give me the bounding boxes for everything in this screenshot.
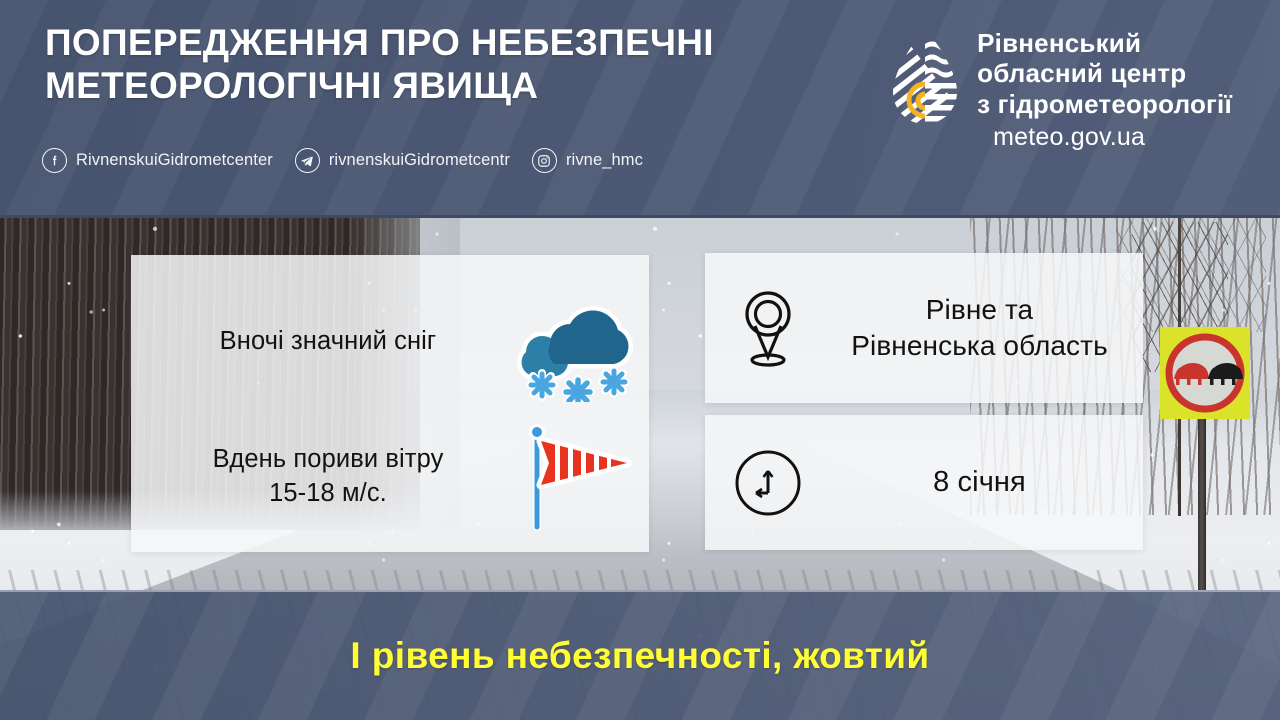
footer-banner: І рівень небезпечності, жовтий [0,590,1280,720]
social-link-instagram[interactable]: rivne_hmc [532,148,643,173]
location-line-2: Рівненська область [830,328,1129,364]
forecast-day-text: Вдень пориви вітру 15-18 м/с. [131,443,499,510]
social-link-telegram[interactable]: rivnenskuiGidrometcentr [295,148,510,173]
date-panel: 8 січня [705,415,1143,550]
organization-logo: Рівненський обласний центр з гідрометеор… [889,26,1232,152]
instagram-icon [532,148,557,173]
no-overtaking-sign [1160,327,1250,419]
forecast-day-line-2: 15-18 м/с. [157,477,499,511]
location-panel: Рівне та Рівненська область [705,253,1143,403]
header-banner: ПОПЕРЕДЖЕННЯ ПРО НЕБЕЗПЕЧНІ МЕТЕОРОЛОГІЧ… [0,0,1280,218]
clock-icon [705,446,830,520]
social-link-facebook[interactable]: RivnenskuiGidrometcenter [42,148,273,173]
date-text: 8 січня [830,464,1143,502]
hydromet-droplet-logo-icon [889,26,961,131]
logo-line-2: обласний центр [977,58,1232,88]
location-line-1: Рівне та [830,292,1129,328]
snow-cloud-icon [499,282,649,402]
logo-line-3: з гідрометеорології [977,89,1232,119]
telegram-handle: rivnenskuiGidrometcentr [329,151,510,170]
telegram-icon [295,148,320,173]
forecast-night-text: Вночі значний сніг [131,325,499,359]
page-title: ПОПЕРЕДЖЕННЯ ПРО НЕБЕЗПЕЧНІ МЕТЕОРОЛОГІЧ… [45,22,805,108]
forecast-row-day: Вдень пориви вітру 15-18 м/с. [131,407,649,547]
logo-line-1: Рівненський [977,28,1232,58]
facebook-handle: RivnenskuiGidrometcenter [76,151,273,170]
forecast-panel: Вночі значний сніг [131,255,649,552]
wind-flag-icon [499,415,649,540]
social-links: RivnenskuiGidrometcenter rivnenskuiGidro… [42,148,643,173]
location-text: Рівне та Рівненська область [830,292,1143,365]
map-pin-icon [705,285,830,371]
logo-website: meteo.gov.ua [993,122,1232,152]
logo-text-block: Рівненський обласний центр з гідрометеор… [977,26,1232,152]
facebook-icon [42,148,67,173]
instagram-handle: rivne_hmc [566,151,643,170]
location-row: Рівне та Рівненська область [705,253,1143,403]
forecast-row-night: Вночі значний сніг [131,277,649,407]
warning-level-text: І рівень небезпечності, жовтий [350,635,929,677]
road-sign-post [1198,415,1206,590]
date-row: 8 січня [705,415,1143,550]
infographic-root: ПОПЕРЕДЖЕННЯ ПРО НЕБЕЗПЕЧНІ МЕТЕОРОЛОГІЧ… [0,0,1280,720]
forecast-day-line-1: Вдень пориви вітру [157,443,499,477]
